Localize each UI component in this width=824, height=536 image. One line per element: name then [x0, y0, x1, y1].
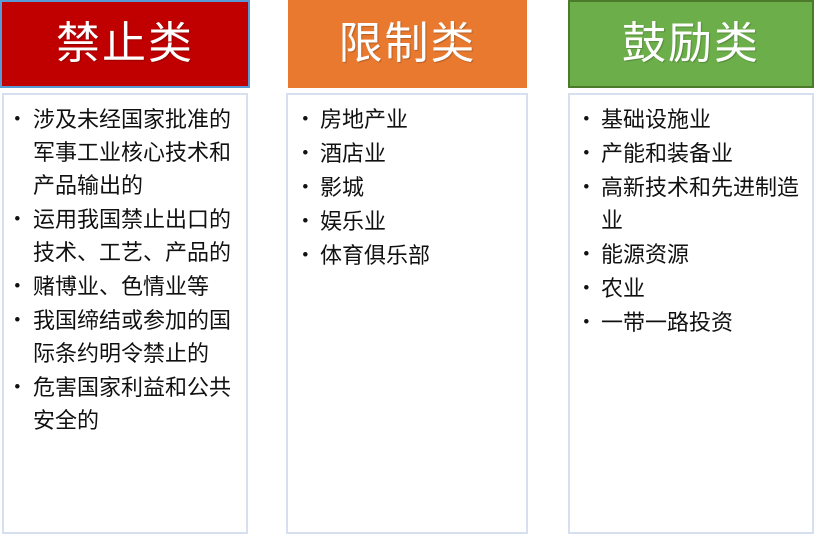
- bullet-list-restricted: 房地产业 酒店业 影城 娱乐业 体育俱乐部: [294, 103, 520, 272]
- category-column-prohibited: 禁止类 涉及未经国家批准的军事工业核心技术和产品输出的 运用我国禁止出口的技术、…: [0, 0, 252, 536]
- category-column-encouraged: 鼓励类 基础设施业 产能和装备业 高新技术和先进制造业 能源资源 农业 一带一路…: [563, 0, 819, 536]
- category-body-prohibited: 涉及未经国家批准的军事工业核心技术和产品输出的 运用我国禁止出口的技术、工艺、产…: [2, 93, 248, 534]
- category-header-encouraged: 鼓励类: [568, 0, 814, 88]
- category-header-restricted: 限制类: [288, 0, 527, 88]
- category-body-restricted: 房地产业 酒店业 影城 娱乐业 体育俱乐部: [286, 93, 528, 534]
- list-item: 房地产业: [294, 103, 520, 136]
- list-item: 危害国家利益和公共安全的: [10, 371, 240, 437]
- list-item: 一带一路投资: [576, 306, 806, 339]
- category-column-restricted: 限制类 房地产业 酒店业 影城 娱乐业 体育俱乐部: [283, 0, 531, 536]
- list-item: 能源资源: [576, 238, 806, 271]
- bullet-list-prohibited: 涉及未经国家批准的军事工业核心技术和产品输出的 运用我国禁止出口的技术、工艺、产…: [10, 103, 240, 437]
- category-body-encouraged: 基础设施业 产能和装备业 高新技术和先进制造业 能源资源 农业 一带一路投资: [568, 93, 814, 534]
- list-item: 我国缔结或参加的国际条约明令禁止的: [10, 304, 240, 370]
- list-item: 基础设施业: [576, 103, 806, 136]
- bullet-list-encouraged: 基础设施业 产能和装备业 高新技术和先进制造业 能源资源 农业 一带一路投资: [576, 103, 806, 339]
- list-item: 农业: [576, 272, 806, 305]
- list-item: 影城: [294, 171, 520, 204]
- list-item: 体育俱乐部: [294, 239, 520, 272]
- list-item: 产能和装备业: [576, 137, 806, 170]
- category-title-prohibited: 禁止类: [56, 22, 194, 66]
- list-item: 运用我国禁止出口的技术、工艺、产品的: [10, 203, 240, 269]
- category-header-prohibited: 禁止类: [0, 0, 250, 88]
- list-item: 赌博业、色情业等: [10, 270, 240, 303]
- list-item: 涉及未经国家批准的军事工业核心技术和产品输出的: [10, 103, 240, 202]
- list-item: 高新技术和先进制造业: [576, 171, 806, 237]
- category-title-restricted: 限制类: [339, 22, 477, 66]
- category-columns-diagram: 禁止类 涉及未经国家批准的军事工业核心技术和产品输出的 运用我国禁止出口的技术、…: [0, 0, 824, 536]
- category-title-encouraged: 鼓励类: [622, 22, 760, 66]
- list-item: 娱乐业: [294, 205, 520, 238]
- list-item: 酒店业: [294, 137, 520, 170]
